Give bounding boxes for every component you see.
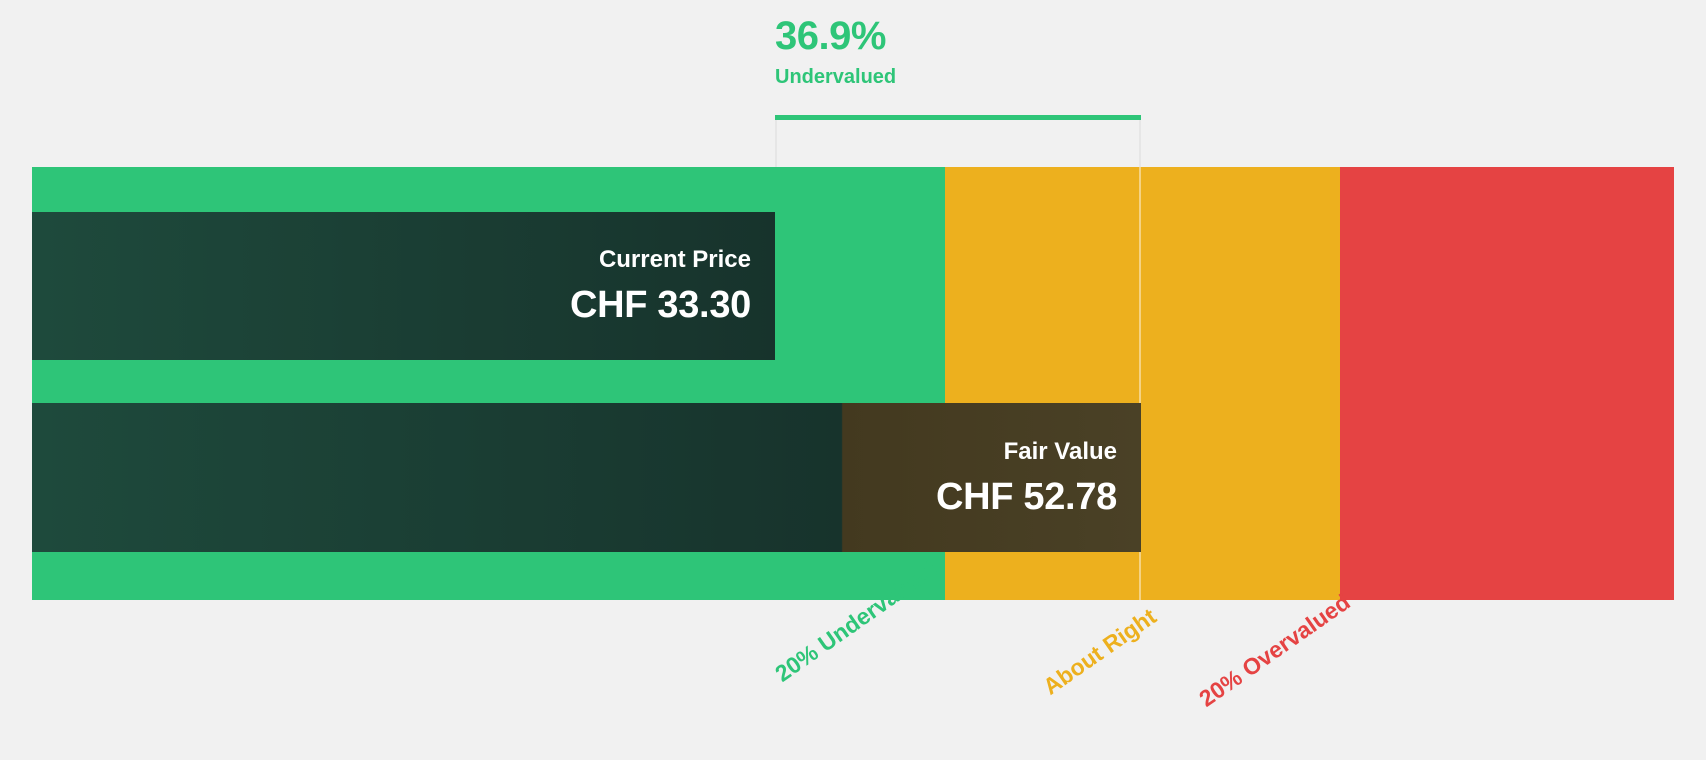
fair-value-value: CHF 52.78 <box>936 478 1117 516</box>
current-price-value: CHF 33.30 <box>570 286 751 324</box>
valuation-chart: 36.9% Undervalued Current Price CHF 33.3… <box>0 0 1706 760</box>
current-price-label: Current Price <box>599 248 751 272</box>
fair-value-bar[interactable]: Fair Value CHF 52.78 <box>32 403 1141 552</box>
guide-line-right <box>1139 120 1141 167</box>
fair-value-label: Fair Value <box>1004 440 1117 464</box>
axis-label-overvalued: 20% Overvalued <box>1195 590 1354 711</box>
guide-line-left <box>775 120 777 167</box>
axis-label-about-right: About Right <box>1039 605 1160 699</box>
fair-value-range-rule <box>775 115 1141 120</box>
axis-labels: 20% Undervalued About Right 20% Overvalu… <box>0 600 1706 760</box>
valuation-status: Undervalued <box>775 67 896 87</box>
band-overvalued <box>1340 167 1674 600</box>
chart-plot-area: Current Price CHF 33.30 Fair Value CHF 5… <box>32 167 1674 600</box>
valuation-summary: 36.9% Undervalued <box>775 16 896 87</box>
valuation-percent: 36.9% <box>775 16 896 56</box>
current-price-bar[interactable]: Current Price CHF 33.30 <box>32 212 775 360</box>
